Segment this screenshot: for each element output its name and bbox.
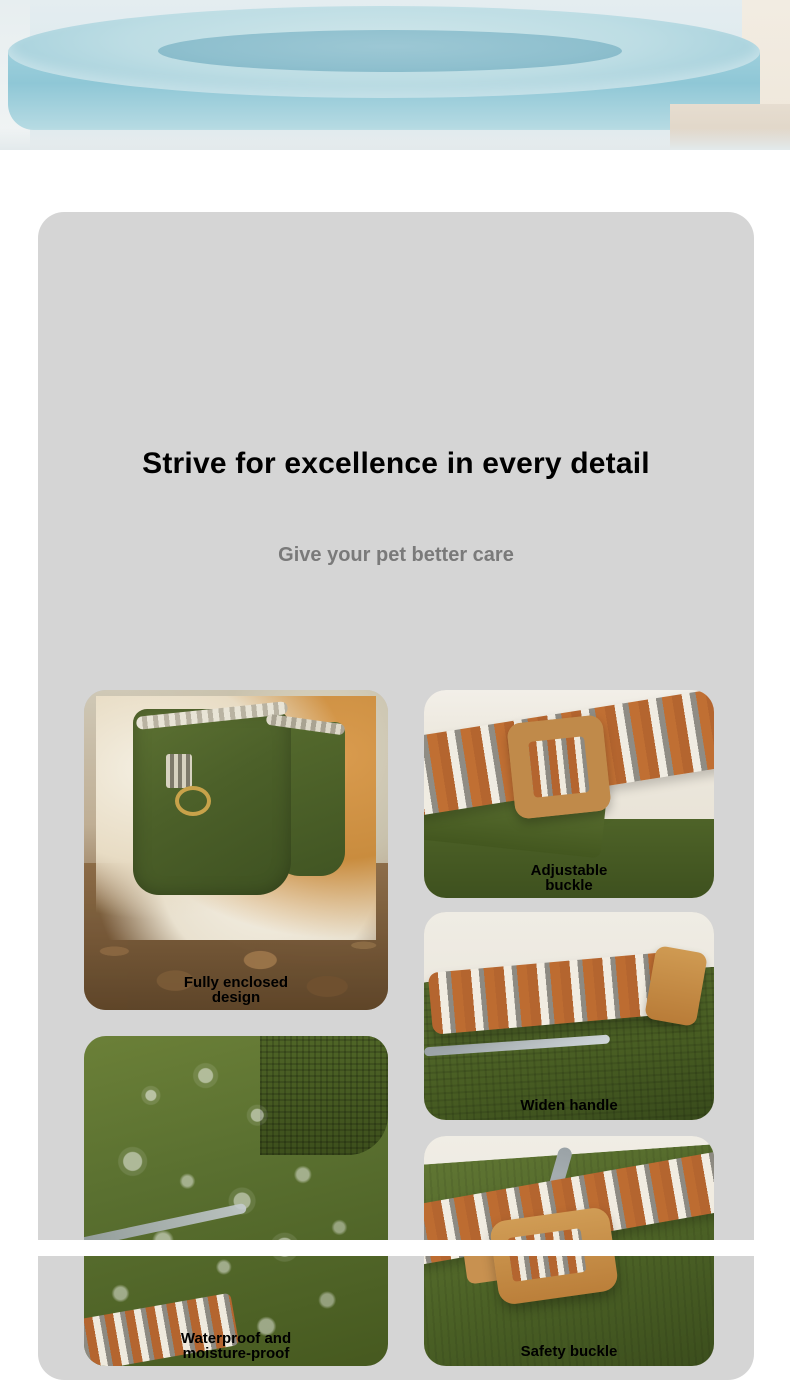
d-ring-icon <box>175 786 211 816</box>
feature-panel-wrapper: Strive for excellence in every detail Gi… <box>0 150 790 1256</box>
caption-line-1: Waterproof and <box>181 1330 291 1347</box>
feature-caption-waterproof-moisture-proof: Waterproof and moisture-proof <box>84 1331 388 1363</box>
page-title: Strive for excellence in every detail <box>38 447 754 481</box>
photo-widen-handle <box>424 912 714 1120</box>
feature-caption-adjustable-buckle: Adjustable buckle <box>424 863 714 895</box>
safety-buckle-shape <box>488 1206 619 1306</box>
buckle-shape <box>506 714 612 820</box>
bottom-white-margin <box>0 1240 790 1256</box>
feature-card-widen-handle: Widen handle <box>424 912 714 1120</box>
photo-dog-in-harness <box>84 690 388 1010</box>
feature-card-adjustable-buckle: Adjustable buckle <box>424 690 714 898</box>
page-subtitle: Give your pet better care <box>38 544 754 567</box>
caption-line-2: design <box>212 989 260 1006</box>
caption-line-2: moisture-proof <box>183 1345 290 1362</box>
pedestal-inner-recess <box>158 30 622 72</box>
caption-line-1: Safety buckle <box>521 1343 618 1360</box>
feature-card-fully-enclosed-design: Fully enclosed design <box>84 690 388 1010</box>
pedestal-top-surface <box>8 6 760 98</box>
caption-line-1: Fully enclosed <box>184 974 288 991</box>
hero-product-photo <box>0 0 790 150</box>
caption-line-2: buckle <box>545 877 593 894</box>
feature-card-waterproof-moisture-proof: Waterproof and moisture-proof <box>84 1036 388 1366</box>
feature-panel: Strive for excellence in every detail Gi… <box>38 212 754 1380</box>
feature-image-grid: Fully enclosed design Adjustable buckle <box>84 644 714 1344</box>
feature-caption-safety-buckle: Safety buckle <box>424 1344 714 1360</box>
caption-line-1: Widen handle <box>520 1097 617 1114</box>
feature-caption-fully-enclosed-design: Fully enclosed design <box>84 975 388 1007</box>
hero-shadow-gradient <box>0 128 790 150</box>
photo-waterproof-fabric <box>84 1036 388 1366</box>
feature-caption-widen-handle: Widen handle <box>424 1098 714 1114</box>
caption-line-1: Adjustable <box>531 862 608 879</box>
